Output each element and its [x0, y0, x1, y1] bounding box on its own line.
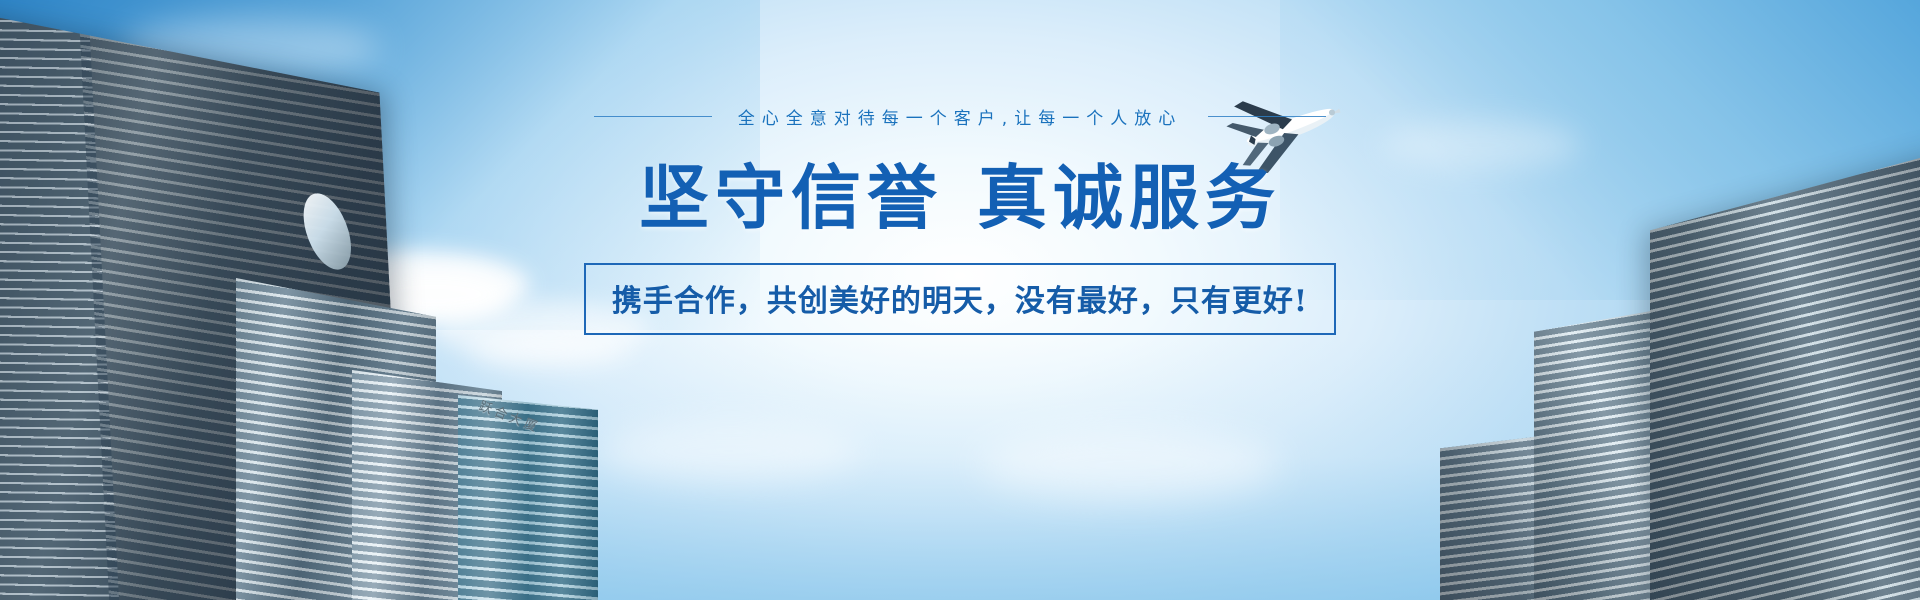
tagline-text: 全心全意对待每一个客户,让每一个人放心: [738, 104, 1182, 129]
headline-part-two: 真诚服务: [977, 156, 1281, 239]
horizontal-rule-left-icon: [594, 116, 712, 117]
subtitle-box: 携手合作，共创美好的明天，没有最好，只有更好!: [584, 263, 1336, 335]
tagline-row: 全心全意对待每一个客户,让每一个人放心: [594, 104, 1326, 129]
hero-banner: 跃合大厦 全心全意对待每一个客户,让每一个人放心: [0, 0, 1920, 600]
horizontal-rule-right-icon: [1208, 116, 1326, 117]
headline-part-one: 坚守信誉: [639, 156, 943, 239]
banner-content: 全心全意对待每一个客户,让每一个人放心 坚守信誉真诚服务 携手合作，共创美好的明…: [0, 0, 1920, 600]
subtitle-text: 携手合作，共创美好的明天，没有最好，只有更好!: [612, 276, 1308, 320]
headline: 坚守信誉真诚服务: [639, 159, 1281, 237]
